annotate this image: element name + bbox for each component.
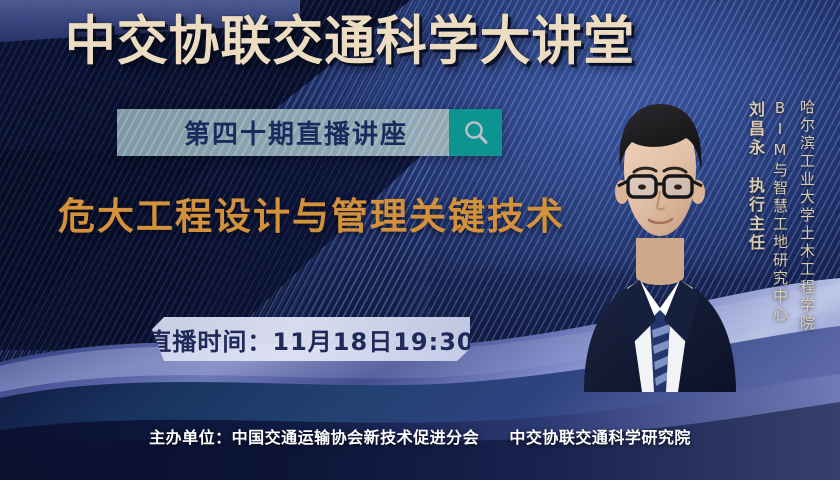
- search-icon-box[interactable]: [449, 109, 502, 156]
- speaker-portrait: [560, 80, 760, 420]
- search-icon: [461, 118, 491, 148]
- speaker-name: 刘昌永 执行主任: [743, 101, 767, 253]
- lecture-title: 危大工程设计与管理关键技术: [58, 186, 565, 240]
- page-title: 中交协联交通科学大讲堂: [14, 14, 686, 70]
- broadcast-time-badge: 直播时间：11月18日19:30: [152, 317, 470, 361]
- series-label-container: 第四十期直播讲座: [117, 109, 449, 156]
- organizer-footer: 主办单位：中国交通运输协会新技术促进分会 中交协联交通科学研究院: [0, 424, 840, 448]
- speaker-center: BIM与智慧工地研究中心: [770, 99, 791, 324]
- broadcast-time-text: 直播时间：11月18日19:30: [147, 322, 474, 357]
- poster-canvas: 中交协联交通科学大讲堂 第四十期直播讲座 危大工程设计与管理关键技术 直播时间：…: [0, 0, 840, 480]
- speaker-affiliation: 哈尔滨工业大学土木工程学院: [797, 99, 818, 333]
- series-banner: 第四十期直播讲座: [117, 109, 502, 156]
- series-label: 第四十期直播讲座: [158, 114, 408, 151]
